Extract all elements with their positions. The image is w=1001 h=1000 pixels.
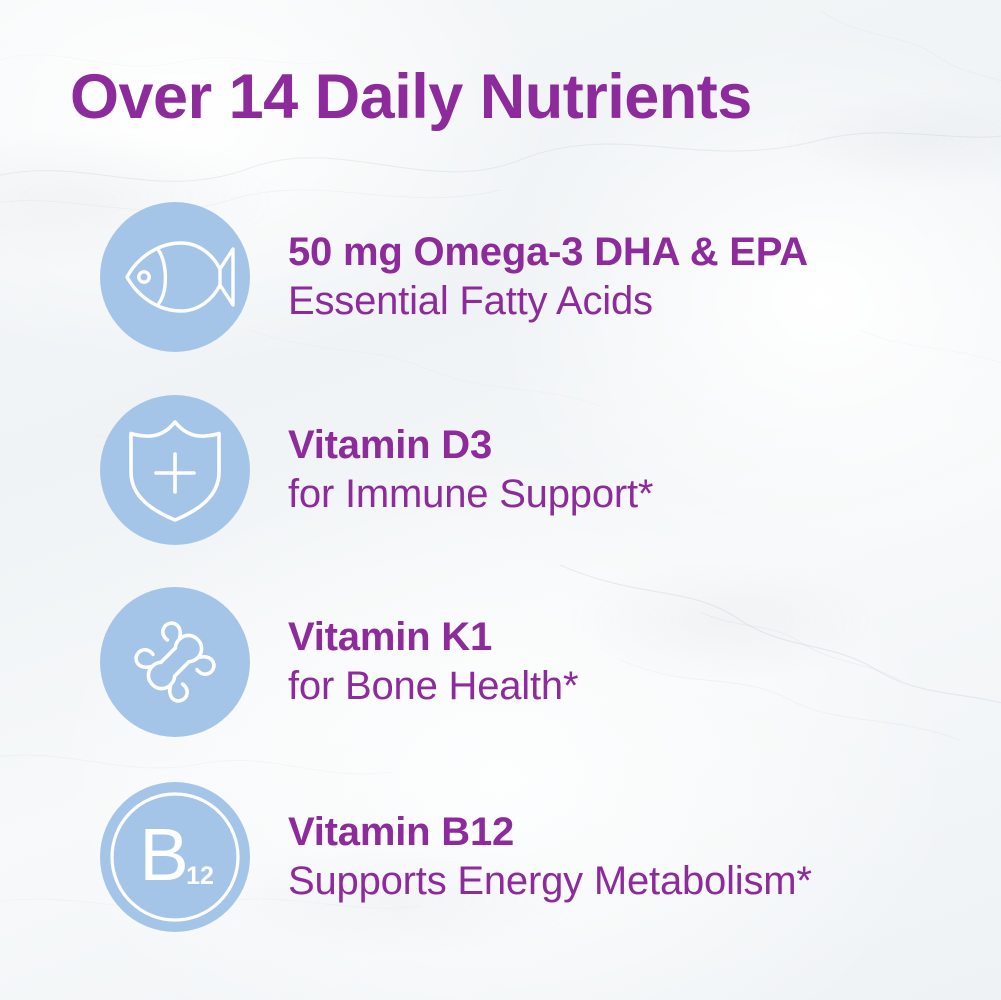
nutrient-text-vitamin-k1: Vitamin K1 for Bone Health* [288,615,578,709]
nutrient-main-vitamin-k1: Vitamin K1 [288,615,578,660]
nutrient-sub-vitamin-b12: Supports Energy Metabolism* [288,859,812,904]
bone-icon [119,606,231,718]
nutrient-row-omega3: 50 mg Omega-3 DHA & EPA Essential Fatty … [100,202,980,352]
nutrient-text-vitamin-d3: Vitamin D3 for Immune Support* [288,423,653,517]
nutrient-text-vitamin-b12: Vitamin B12 Supports Energy Metabolism* [288,810,812,904]
nutrient-row-vitamin-d3: Vitamin D3 for Immune Support* [100,395,980,545]
nutrient-main-omega3: 50 mg Omega-3 DHA & EPA [288,230,808,275]
nutrient-main-vitamin-b12: Vitamin B12 [288,810,812,855]
shield-plus-icon [123,414,227,526]
b12-circle-icon: B 12 [100,782,250,932]
fish-icon [115,227,235,327]
nutrient-row-vitamin-k1: Vitamin K1 for Bone Health* [100,587,980,737]
b12-letter: B [139,813,188,896]
badge-vitamin-k1 [100,587,250,737]
nutrient-text-omega3: 50 mg Omega-3 DHA & EPA Essential Fatty … [288,230,808,324]
badge-omega3 [100,202,250,352]
nutrient-sub-vitamin-d3: for Immune Support* [288,472,653,517]
nutrient-sub-vitamin-k1: for Bone Health* [288,664,578,709]
infographic-page: Over 14 Daily Nutrients 50 mg Omega-3 DH… [0,0,1001,1000]
nutrient-main-vitamin-d3: Vitamin D3 [288,423,653,468]
badge-vitamin-b12: B 12 [100,782,250,932]
nutrient-list: 50 mg Omega-3 DHA & EPA Essential Fatty … [0,0,1001,1000]
nutrient-row-vitamin-b12: B 12 Vitamin B12 Supports Energy Metabol… [100,782,980,932]
badge-vitamin-d3 [100,395,250,545]
b12-subscript: 12 [186,862,214,890]
nutrient-sub-omega3: Essential Fatty Acids [288,279,808,324]
